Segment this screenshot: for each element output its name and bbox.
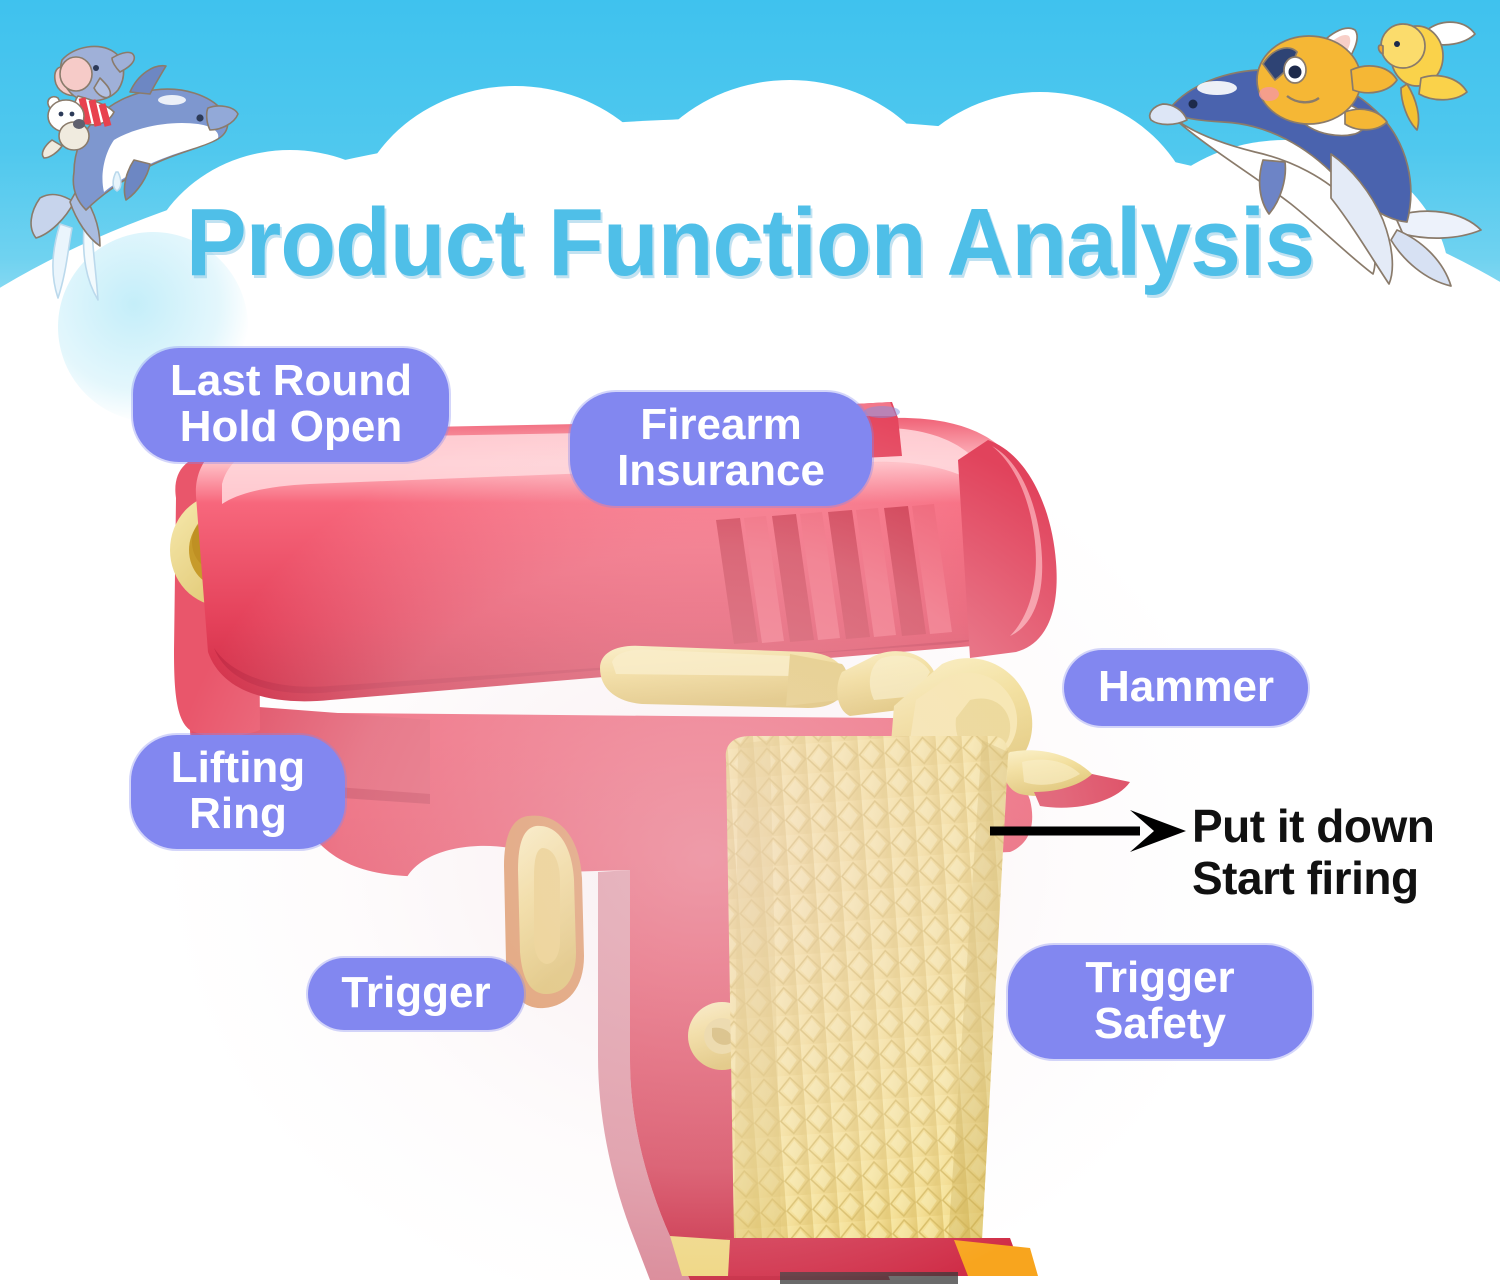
annotation-arrow-icon: [990, 806, 1190, 856]
callout-hammer[interactable]: Hammer: [1064, 650, 1308, 726]
callout-trigger[interactable]: Trigger: [308, 958, 524, 1030]
product-function-analysis-poster: Product Function Analysis: [0, 0, 1500, 1284]
callout-firearm-insurance[interactable]: Firearm Insurance: [570, 392, 872, 506]
mascot-right-dolphin-rabbit-duck: [1145, 8, 1495, 328]
callout-lifting-ring[interactable]: Lifting Ring: [131, 735, 345, 849]
annotation-put-it-down-start-firing: Put it down Start firing: [1192, 800, 1434, 905]
mascot-left-dolphin-elephant: [22, 12, 252, 312]
magazine-follower: [954, 1240, 1038, 1276]
callout-last-round-hold-open[interactable]: Last Round Hold Open: [133, 348, 449, 462]
callout-trigger-safety[interactable]: Trigger Safety: [1008, 945, 1312, 1059]
slide-rear: [958, 440, 1057, 658]
